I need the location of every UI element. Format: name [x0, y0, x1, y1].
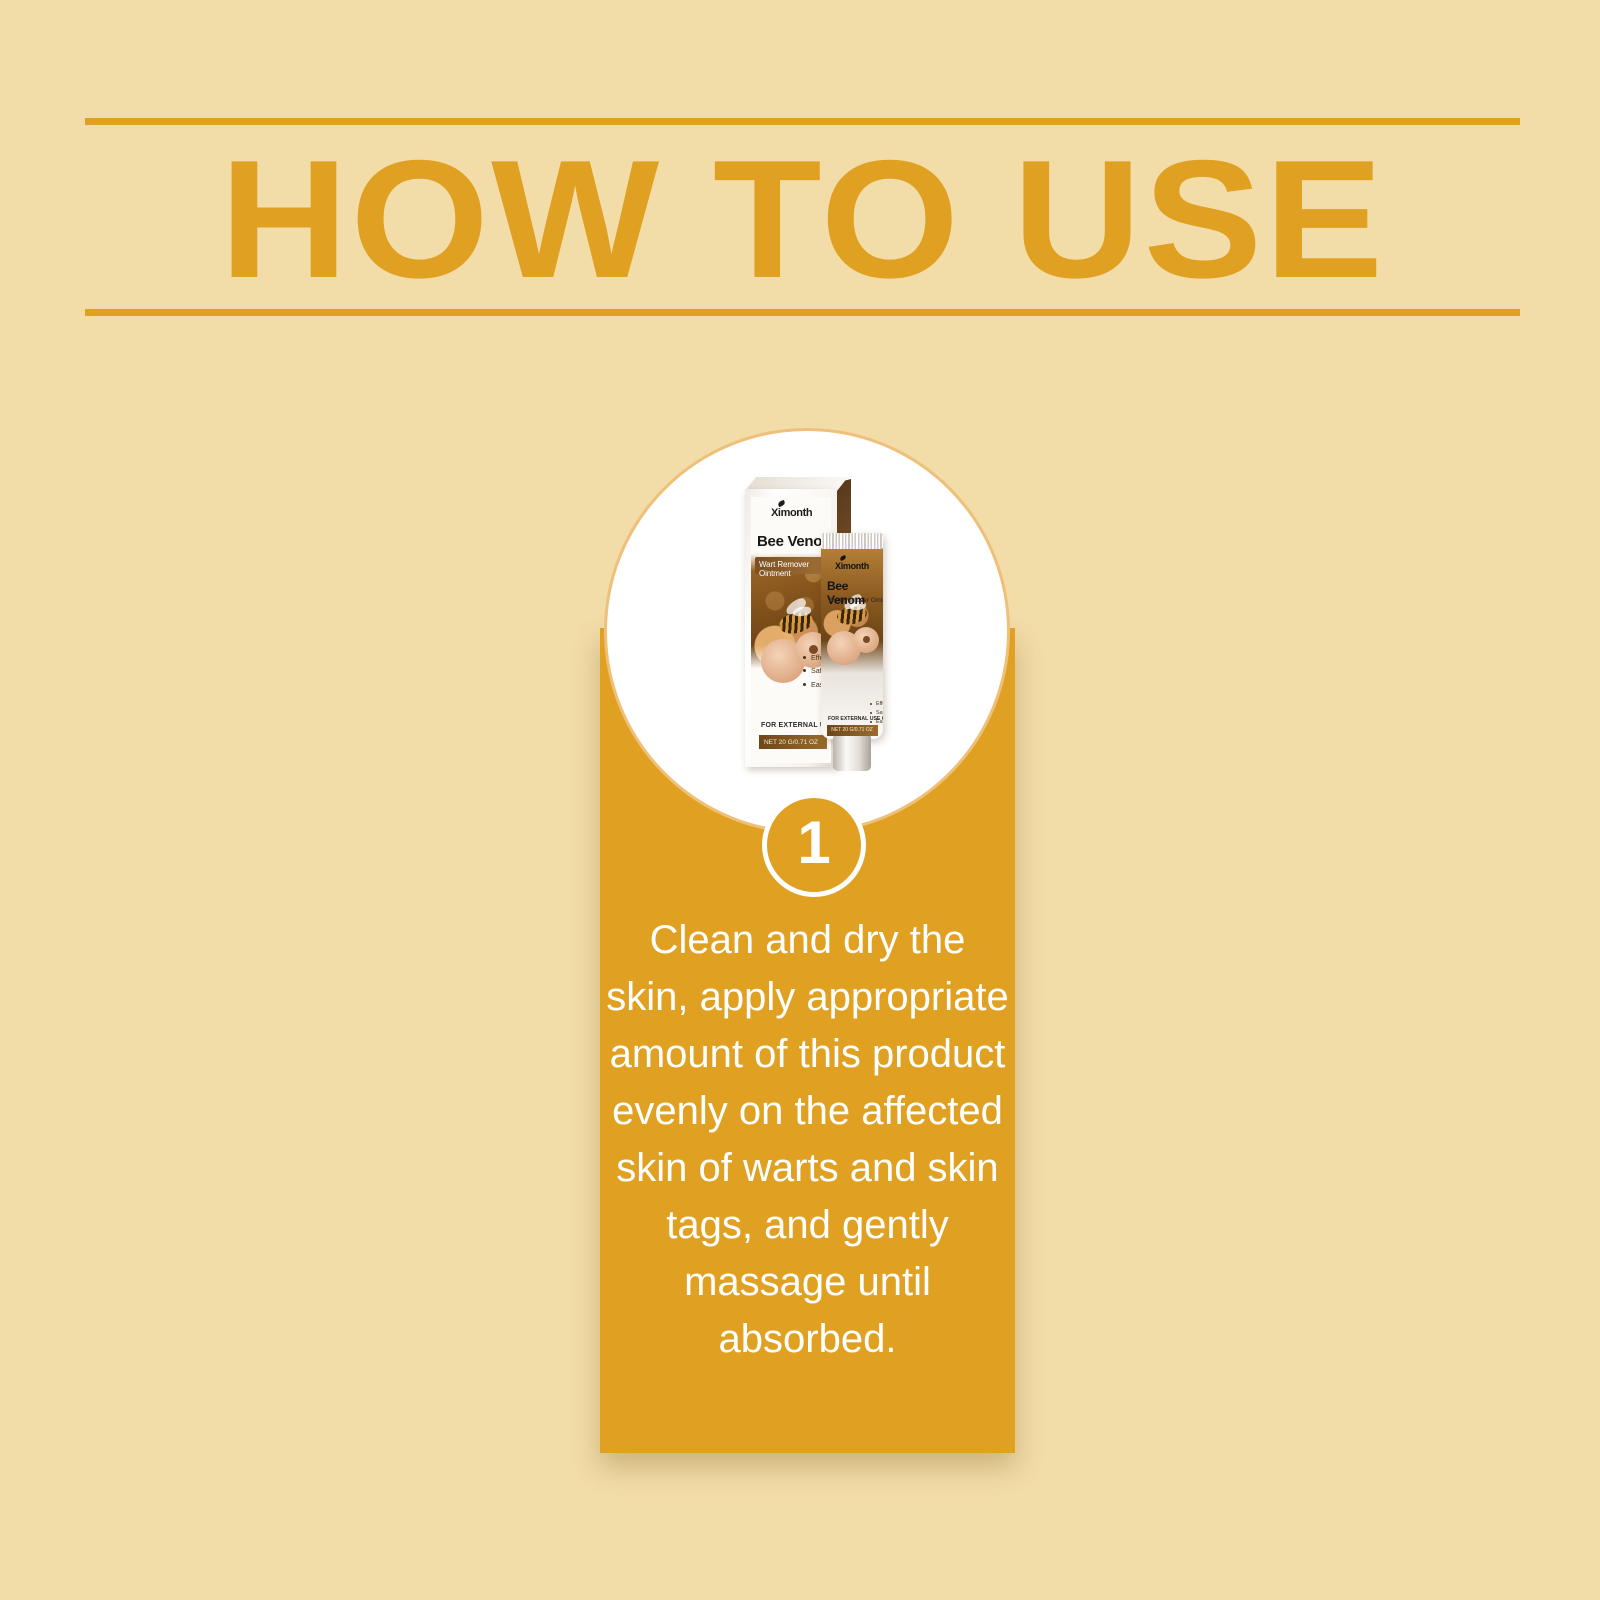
- product-image: Ximonth Bee Venom Wart Remover Ointment …: [607, 431, 1007, 831]
- product-tube: Ximonth Bee Venom Wart Remover Ointment …: [821, 519, 883, 771]
- page-title: HOW TO USE: [42, 125, 1563, 309]
- tube-cap: [833, 735, 871, 771]
- step-number: 1: [797, 813, 830, 873]
- product-bullet-list: Effectively improve Safe & gentle Easy f…: [830, 701, 883, 728]
- product-brand: Ximonth: [835, 561, 869, 571]
- page-header: HOW TO USE: [85, 118, 1520, 316]
- external-use-notice: FOR EXTERNAL USE ONLY: [828, 716, 883, 722]
- step-description: Clean and dry the skin, apply appropriat…: [600, 912, 1015, 1368]
- tube-crimp: [821, 533, 883, 549]
- step-card: Ximonth Bee Venom Wart Remover Ointment …: [600, 428, 1015, 1453]
- product-photo-circle: Ximonth Bee Venom Wart Remover Ointment …: [604, 428, 1010, 834]
- product-bullet: Effectively improve: [870, 701, 883, 707]
- net-weight-label: NET 20 G/0.71 OZ: [821, 727, 883, 733]
- product-subtitle: Wart Remover Ointment: [828, 597, 883, 604]
- header-rule-top: [85, 118, 1520, 125]
- step-number-badge: 1: [762, 793, 866, 897]
- how-to-use-infographic: { "header": { "title": "HOW TO USE", "ru…: [0, 0, 1600, 1600]
- product-brand: Ximonth: [771, 507, 812, 519]
- skin-after-photo: [853, 627, 879, 653]
- tube-body: Ximonth Bee Venom Wart Remover Ointment …: [821, 533, 883, 739]
